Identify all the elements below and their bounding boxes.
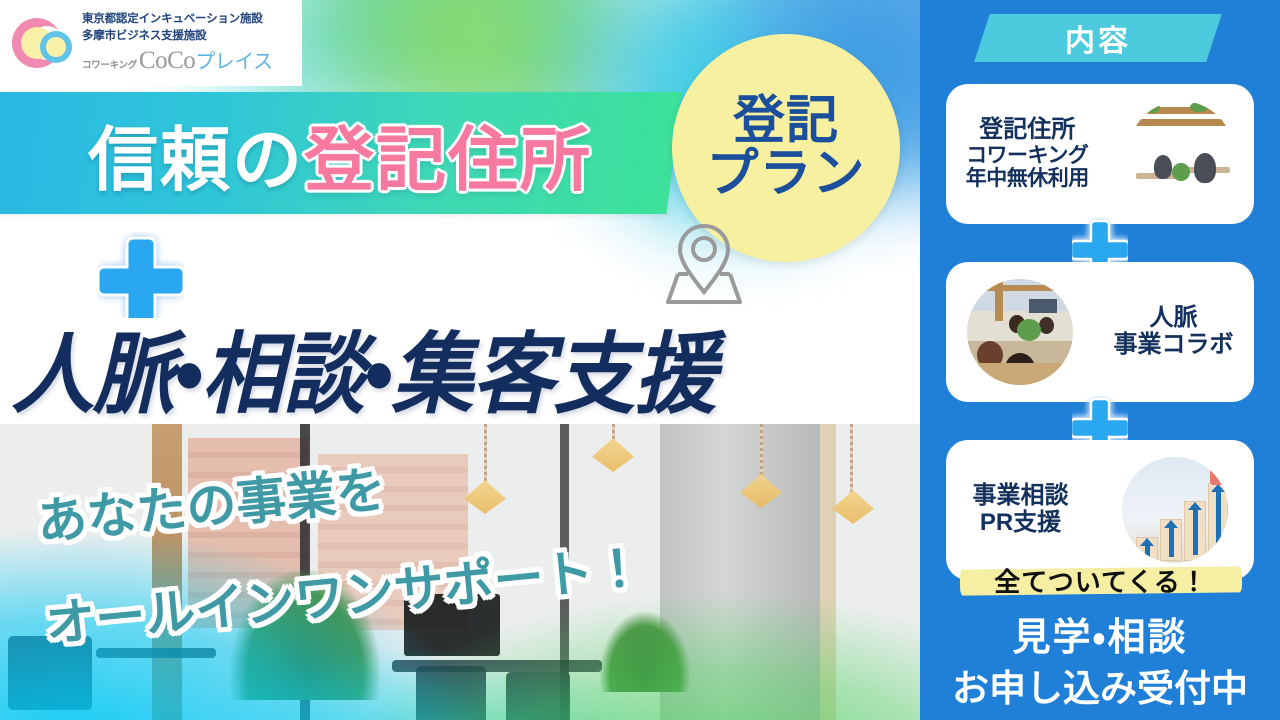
office-photo: あなたの事業を オールインワンサポート！: [0, 424, 920, 720]
card-3-line-1: 事業相談: [973, 483, 1069, 510]
logo-brand-line: コワーキング CoCo プレイス: [82, 45, 273, 75]
coworking-space-photo: [1128, 101, 1234, 207]
thumb-2-screen: [1029, 299, 1057, 313]
logo-text-block: 東京都認定インキュベーション施設 多摩市ビジネス支援施設 コワーキング CoCo…: [82, 11, 273, 75]
card-consult-pr[interactable]: 事業相談 PR支援: [946, 440, 1254, 580]
main-panel: 信頼の 登記住所 登記 プラン: [0, 0, 920, 720]
cta-line-1: 見学・相談: [920, 606, 1280, 661]
photo-wood-column-2: [820, 424, 836, 720]
card-3-line-2: PR支援: [973, 510, 1069, 537]
logo-kana: コワーキング: [82, 57, 137, 71]
photo-lamp-cord-3: [760, 424, 763, 478]
card-1-line-2: コワーキング: [966, 144, 1089, 168]
thumb-1-person-2: [1194, 153, 1216, 183]
thumb-1-person-1: [1154, 155, 1172, 179]
cta-highlight-text: 全てついてくる！: [960, 560, 1242, 600]
headline-pink-part: 登記住所: [304, 104, 592, 205]
card-1-line-1: 登記住所: [966, 117, 1089, 144]
logo-brand-suffix: プレイス: [195, 45, 272, 74]
logo-line-2: 多摩市ビジネス支援施設: [82, 28, 273, 44]
plan-badge-line1: 登記: [733, 95, 839, 148]
card-network-collab[interactable]: 人脈 事業コラボ: [946, 262, 1254, 402]
card-3-text: 事業相談 PR支援: [973, 483, 1069, 537]
thumb-3-arrow-2: [1169, 527, 1174, 557]
content-sidebar: 内容 登記住所 コワーキング 年中無休利用: [920, 0, 1280, 720]
logo-brand-name: CoCo: [139, 47, 195, 75]
card-1-text: 登記住所 コワーキング 年中無休利用: [966, 117, 1089, 191]
card-2-text: 人脈 事業コラボ: [1114, 305, 1234, 359]
photo-lamp-cord-4: [850, 424, 853, 494]
thumb-1-image: [1128, 101, 1234, 207]
cta-line-2: お申し込み受付中: [920, 658, 1280, 712]
thumb-2-beam: [967, 285, 1073, 291]
card-2-line-2: 事業コラボ: [1114, 332, 1234, 359]
plan-badge-line2: プラン: [706, 148, 865, 201]
networking-event-photo: [967, 279, 1073, 385]
thumb-2-plant: [1017, 319, 1041, 341]
card-registered-address[interactable]: 登記住所 コワーキング 年中無休利用: [946, 84, 1254, 224]
photo-lamp-cord-1: [484, 424, 487, 484]
coco-place-logo-icon: [10, 14, 74, 72]
thumb-3-arrow-3: [1193, 509, 1198, 555]
brand-logo[interactable]: 東京都認定インキュベーション施設 多摩市ビジネス支援施設 コワーキング CoCo…: [0, 0, 302, 86]
photo-chair-1: [416, 666, 486, 720]
thumb-3-arrow-4: [1216, 491, 1221, 553]
thumb-2-head-4: [1039, 317, 1054, 334]
thumb-1-beam-2: [1128, 119, 1234, 126]
photo-chair-2: [506, 672, 570, 720]
growth-chart-photo: [1122, 457, 1228, 563]
headline-secondary: 人脈•相談•集客支援: [12, 308, 912, 425]
sidebar-header-label: 内容: [1065, 16, 1131, 60]
thumb-2-table: [967, 363, 1073, 385]
sidebar-header: 内容: [974, 14, 1222, 62]
promo-banner: 信頼の 登記住所 登記 プラン: [0, 0, 1280, 720]
map-pin-icon: [658, 218, 750, 310]
card-2-line-1: 人脈: [1114, 305, 1234, 332]
headline: 信頼の 登記住所: [88, 100, 688, 208]
photo-plant-2: [600, 612, 690, 692]
thumb-3-accent: [1210, 463, 1228, 485]
card-1-line-3: 年中無休利用: [966, 167, 1089, 191]
logo-line-1: 東京都認定インキュベーション施設: [82, 11, 273, 27]
thumb-3-arrow-1: [1145, 545, 1150, 559]
cta-highlight: 全てついてくる！: [960, 560, 1242, 600]
headline-white-part: 信頼の: [88, 104, 304, 205]
